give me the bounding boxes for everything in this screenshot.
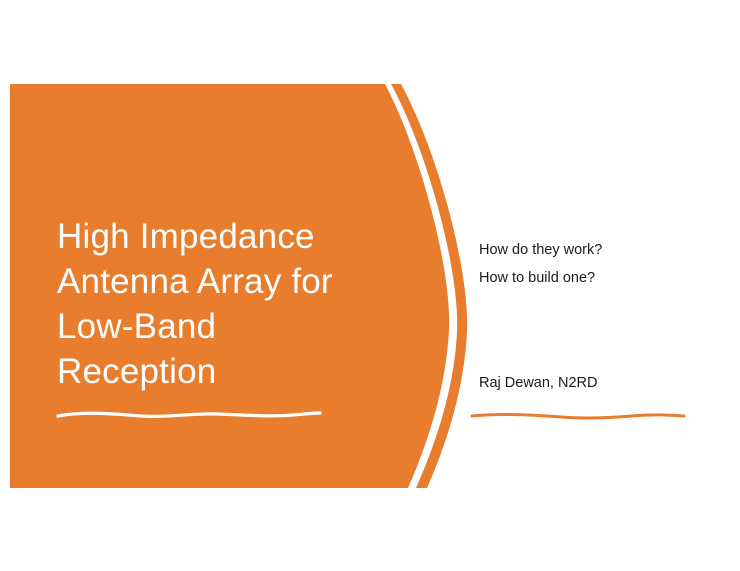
banner-sliver: [391, 84, 467, 488]
title-slide: High Impedance Antenna Array for Low-Ban…: [0, 0, 740, 571]
title-container: High Impedance Antenna Array for Low-Ban…: [57, 214, 387, 394]
title-underline-squiggle: [55, 403, 325, 425]
subtitle-line-2: How to build one?: [479, 270, 719, 287]
slide-title: High Impedance Antenna Array for Low-Ban…: [57, 214, 387, 394]
author-name: Raj Dewan, N2RD: [479, 375, 719, 392]
subtitle-container: How do they work? How to build one?: [479, 242, 719, 298]
subtitle-line-1: How do they work?: [479, 242, 719, 259]
author-underline-squiggle: [468, 405, 690, 427]
author-container: Raj Dewan, N2RD: [479, 375, 719, 392]
